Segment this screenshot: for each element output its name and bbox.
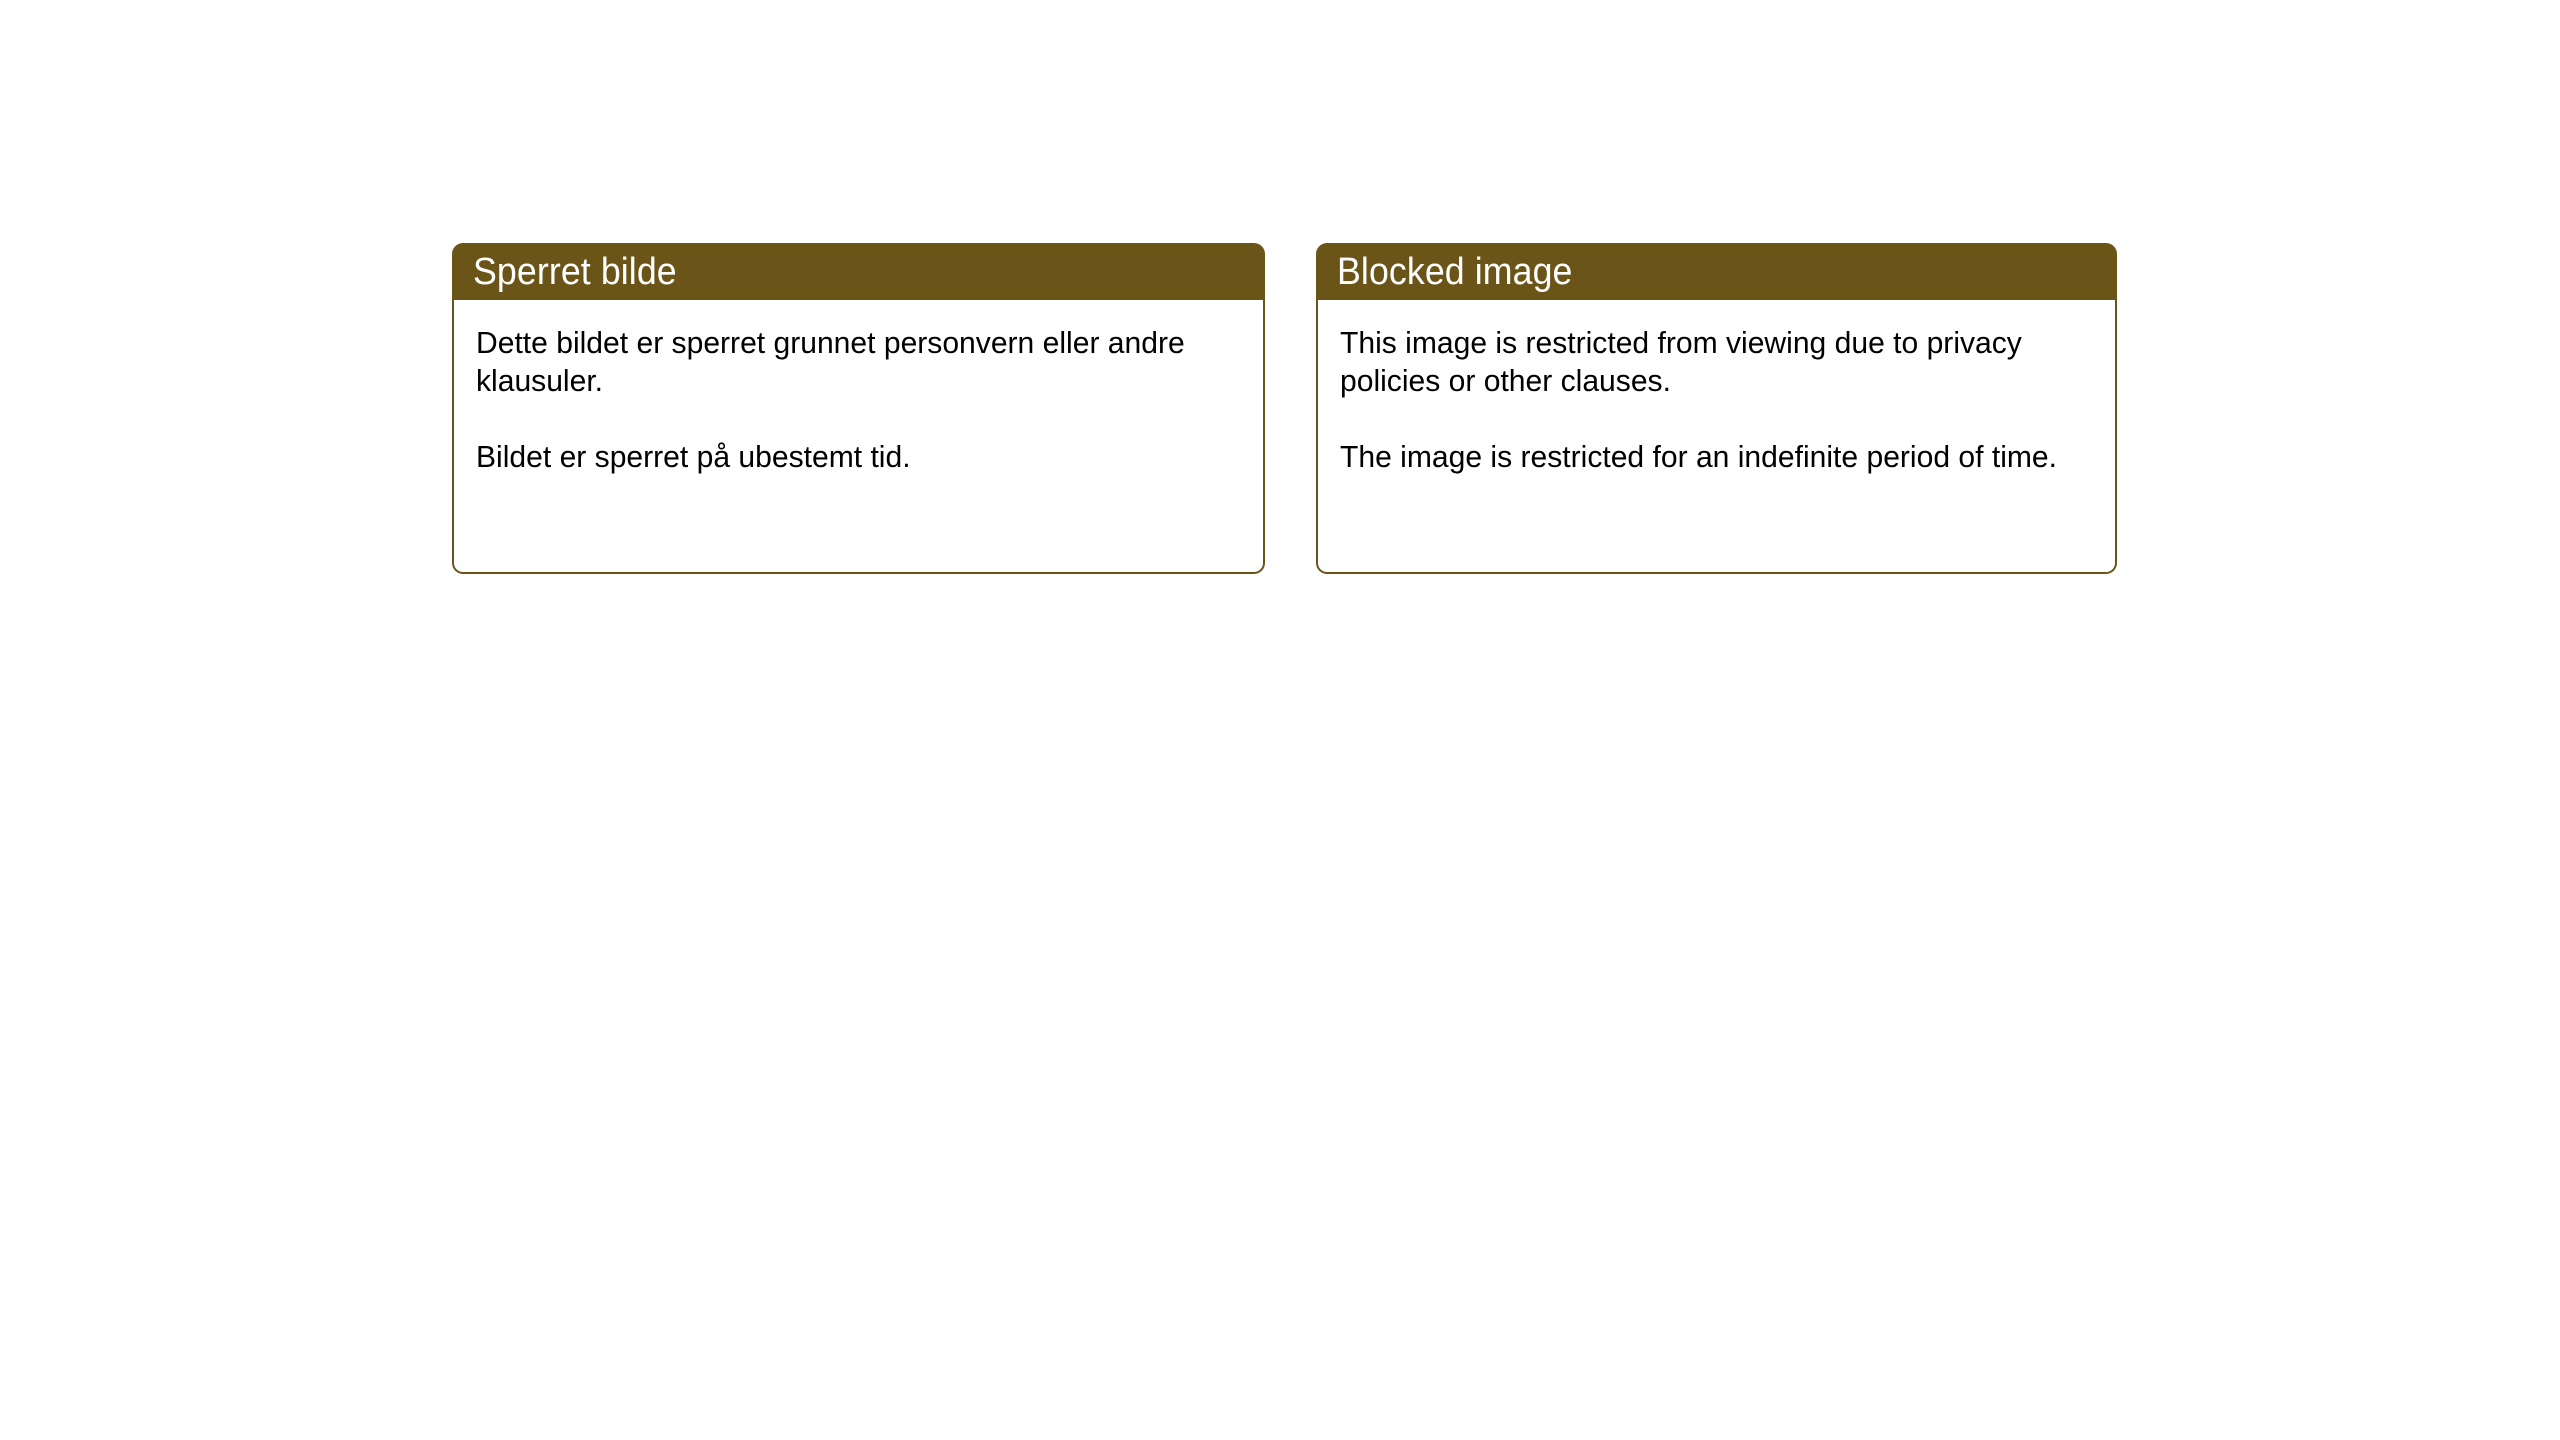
panel-header-norwegian: Sperret bilde — [452, 243, 1265, 300]
panel-title-norwegian: Sperret bilde — [473, 252, 677, 292]
panel-paragraph-reason-english: This image is restricted from viewing du… — [1340, 324, 2070, 400]
panel-title-english: Blocked image — [1337, 252, 1573, 292]
panel-body-norwegian: Dette bildet er sperret grunnet personve… — [452, 300, 1265, 574]
page-root: Sperret bilde Dette bildet er sperret gr… — [0, 0, 2560, 1440]
blocked-image-notice-norwegian: Sperret bilde Dette bildet er sperret gr… — [452, 243, 1265, 574]
panel-paragraph-reason-norwegian: Dette bildet er sperret grunnet personve… — [476, 324, 1218, 400]
panel-paragraph-duration-norwegian: Bildet er sperret på ubestemt tid. — [476, 438, 1218, 476]
panel-paragraph-duration-english: The image is restricted for an indefinit… — [1340, 438, 2070, 476]
blocked-image-notice-english: Blocked image This image is restricted f… — [1316, 243, 2117, 574]
panel-header-english: Blocked image — [1316, 243, 2117, 300]
panel-body-english: This image is restricted from viewing du… — [1316, 300, 2117, 574]
